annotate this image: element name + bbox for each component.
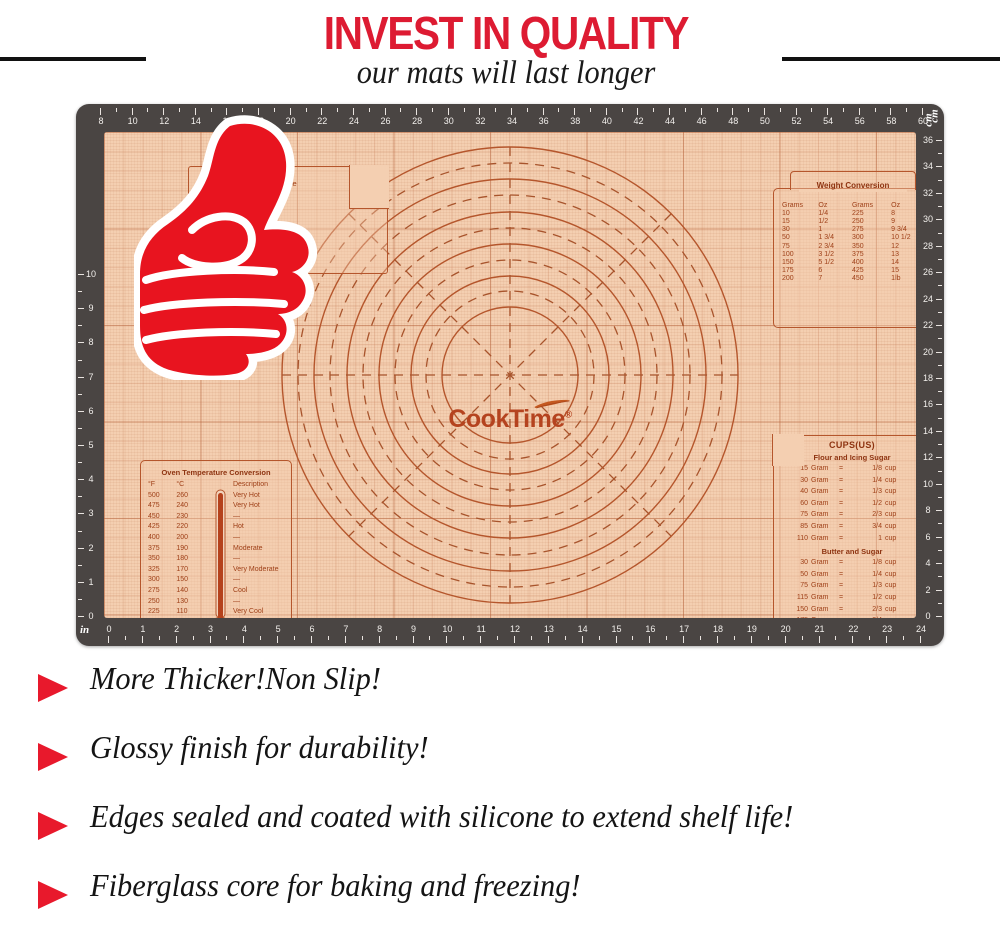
ruler-tick-label: 7	[84, 372, 98, 382]
ruler-tick-label: 48	[727, 116, 739, 126]
list-item: 40Gram=1/3cup	[774, 486, 916, 498]
list-item: Edges sealed and coated with silicone to…	[0, 798, 1000, 867]
ruler-tick	[78, 479, 84, 480]
ruler-tick	[938, 233, 942, 234]
oven-desc-value: Very Moderate	[233, 565, 284, 576]
ruler-tick	[548, 636, 549, 643]
ruler-tick	[78, 360, 82, 361]
weight-cell: 8	[891, 209, 916, 217]
weight-cell: 275	[852, 226, 891, 234]
ruler-tick	[936, 246, 942, 247]
ruler-tick	[78, 582, 84, 583]
list-item: 150Gram=2/3cup	[774, 604, 916, 616]
ruler-tick	[936, 378, 942, 379]
weight-cell: 300	[852, 234, 891, 242]
cups-cell: Gram	[808, 569, 834, 581]
ruler-tick	[802, 636, 803, 640]
ruler-tick-label: 6	[84, 406, 98, 416]
ruler-tick-label: 2	[921, 585, 935, 595]
ruler-tick-label: 7	[339, 624, 353, 634]
ruler-tick	[514, 636, 515, 643]
weight-cell: 14	[891, 258, 916, 266]
ruler-tick	[852, 636, 853, 643]
oven-header-desc: Description	[233, 480, 284, 491]
ruler-tick	[938, 180, 942, 181]
oven-f-value: 400	[148, 533, 176, 544]
feature-bullets: More Thicker!Non Slip! Glossy finish for…	[0, 660, 1000, 936]
ruler-tick	[226, 636, 227, 640]
ruler-tick	[78, 308, 84, 309]
ruler-tick-label: 24	[348, 116, 360, 126]
oven-f-value: 250	[148, 597, 176, 608]
ruler-tick	[748, 108, 749, 112]
ruler-tick-label: 34	[921, 161, 935, 171]
cups-cell: Gram	[808, 498, 834, 510]
oven-desc-value: —	[233, 533, 284, 544]
cups-cell: =	[834, 509, 848, 521]
ruler-tick	[527, 108, 528, 112]
ruler-tick	[936, 352, 942, 353]
ruler-tick	[463, 636, 464, 640]
ruler-tick-label: 12	[921, 452, 935, 462]
ruler-tick	[734, 636, 735, 640]
wheat-icon	[532, 398, 572, 410]
ruler-tick-label: 30	[921, 214, 935, 224]
ruler-right-cm: 363432302826242220181614121086420cm	[916, 104, 944, 646]
cups-cell: =	[834, 557, 848, 569]
oven-c-value: 170	[176, 565, 204, 576]
ruler-tick-label: 4	[237, 624, 251, 634]
ruler-tick	[606, 108, 607, 115]
ruler-tick	[78, 462, 82, 463]
oven-c-value: 230	[176, 512, 204, 523]
table-row: 151/22509	[782, 217, 916, 225]
arrow-right-icon	[38, 674, 68, 702]
bullet-label-3: Edges sealed and coated with silicone to…	[90, 798, 793, 835]
ruler-tick-label: 16	[921, 399, 935, 409]
ruler-tick-label: 15	[610, 624, 624, 634]
ruler-tick	[432, 108, 433, 112]
ruler-tick	[531, 636, 532, 640]
ruler-tick-label: 2	[84, 543, 98, 553]
weight-cell: 1/2	[818, 217, 852, 225]
oven-fahrenheit-column: °F500475450425400375350325300275250225	[148, 480, 176, 618]
cups-cell: Gram	[808, 533, 834, 545]
th-oz-1: Oz	[818, 201, 852, 209]
cups-cell: cup	[882, 557, 904, 569]
oven-f-value: 350	[148, 554, 176, 565]
oven-c-value: 220	[176, 522, 204, 533]
table-row: 175642515	[782, 267, 916, 275]
cups-cell: cup	[882, 486, 904, 498]
list-item: 85Gram=3/4cup	[774, 521, 916, 533]
cups-cell: 85	[788, 521, 808, 533]
weight-cell: 12	[891, 242, 916, 250]
weight-cell: 375	[852, 250, 891, 258]
ruler-tick-label: 21	[813, 624, 827, 634]
oven-c-value: 190	[176, 544, 204, 555]
ruler-tick	[78, 411, 84, 412]
ruler-tick-label: 3	[204, 624, 218, 634]
ruler-tick	[582, 636, 583, 643]
ruler-tick	[936, 193, 942, 194]
ruler-tick	[683, 636, 684, 643]
ruler-tick	[311, 636, 312, 643]
ruler-tick	[260, 636, 261, 640]
arrow-right-icon	[38, 743, 68, 771]
weight-cell: 1	[818, 226, 852, 234]
cups-cell: =	[834, 463, 848, 475]
ruler-tick	[159, 636, 160, 640]
ruler-tick	[125, 636, 126, 640]
ruler-tick	[400, 108, 401, 112]
ruler-tick	[938, 576, 942, 577]
th-oz-2: Oz	[891, 201, 916, 209]
ruler-tick	[936, 457, 942, 458]
cups-cell: cup	[882, 463, 904, 475]
ruler-tick	[590, 108, 591, 112]
ruler-tick	[780, 108, 781, 112]
ruler-tick	[717, 108, 718, 112]
ruler-tick-label: 0	[921, 611, 935, 621]
ruler-unit-cm: cm	[923, 113, 935, 126]
ruler-tick-label: 6	[305, 624, 319, 634]
ruler-tick-label: 12	[508, 624, 522, 634]
ruler-tick	[938, 603, 942, 604]
oven-c-value: 130	[176, 597, 204, 608]
table-row: 752 3/435012	[782, 242, 916, 250]
cups-cell: 3/4	[848, 521, 882, 533]
ruler-tick-label: 4	[84, 474, 98, 484]
ruler-tick	[811, 108, 812, 112]
weight-cell: 1 3/4	[818, 234, 852, 242]
ruler-tick	[938, 497, 942, 498]
ruler-tick-label: 42	[632, 116, 644, 126]
ruler-tick-label: 10	[921, 479, 935, 489]
ruler-tick-label: 36	[538, 116, 550, 126]
cups-cell: 1/3	[848, 486, 882, 498]
ruler-tick	[764, 108, 765, 115]
ruler-tick	[78, 274, 84, 275]
ruler-tick	[294, 636, 295, 640]
ruler-tick-label: 10	[84, 269, 98, 279]
ruler-tick-label: 28	[411, 116, 423, 126]
cups-cell: cup	[882, 509, 904, 521]
oven-c-value: 240	[176, 501, 204, 512]
ruler-tick	[685, 108, 686, 112]
weight-conversion-table: Grams Oz Grams Oz 101/42258151/225093012…	[782, 201, 916, 283]
cups-cell: 60	[788, 498, 808, 510]
list-item: Fiberglass core for baking and freezing!	[0, 867, 1000, 936]
weight-cell: 7	[818, 275, 852, 283]
oven-f-value: 500	[148, 491, 176, 502]
ruler-tick	[938, 471, 942, 472]
header-rule-left	[0, 57, 146, 61]
oven-f-value: 450	[148, 512, 176, 523]
ruler-tick	[936, 563, 942, 564]
oven-desc-value: Very Cool	[233, 607, 284, 618]
ruler-tick-label: 0	[102, 624, 116, 634]
cups-cell: 1/8	[848, 463, 882, 475]
ruler-tick	[353, 108, 354, 115]
ruler-tick	[768, 636, 769, 640]
weight-cell: 425	[852, 267, 891, 275]
brand-logo: CookTime®	[448, 405, 571, 434]
cups-cell: 1/3	[848, 580, 882, 592]
cups-cell: 75	[788, 509, 808, 521]
ruler-tick	[416, 108, 417, 115]
ruler-tick-label: 34	[506, 116, 518, 126]
cups-cell: 30	[788, 475, 808, 487]
ruler-tick	[938, 338, 942, 339]
th-grams-2: Grams	[852, 201, 891, 209]
weight-conversion-title: Weight Conversion	[790, 181, 916, 190]
cups-cell: 1/4	[848, 569, 882, 581]
pastry-mat-product-image: CookTime® e before use bject on the mat …	[76, 104, 944, 646]
ruler-tick	[210, 636, 211, 643]
ruler-tick	[379, 636, 380, 643]
ruler-tick	[132, 108, 133, 115]
ruler-tick-label: 28	[921, 241, 935, 251]
cups-cell: Gram	[808, 521, 834, 533]
ruler-tick-label: 8	[921, 505, 935, 515]
oven-desc-value: Very Hot	[233, 501, 284, 512]
ruler-tick	[599, 636, 600, 640]
weight-cell: 150	[782, 258, 818, 266]
oven-c-value: 180	[176, 554, 204, 565]
ruler-tick-label: 56	[854, 116, 866, 126]
list-item: 30Gram=1/4cup	[774, 475, 916, 487]
oven-desc-value: Very Hot	[233, 491, 284, 502]
ruler-tick	[337, 108, 338, 112]
oven-c-value: 150	[176, 575, 204, 586]
cups-cell: =	[834, 569, 848, 581]
weight-cell: 13	[891, 250, 916, 258]
cups-cell: cup	[882, 498, 904, 510]
weight-cell: 3 1/2	[818, 250, 852, 258]
weight-cell: 6	[818, 267, 852, 275]
ruler-tick-label: 5	[271, 624, 285, 634]
ruler-tick-label: 13	[542, 624, 556, 634]
list-item: Glossy finish for durability!	[0, 729, 1000, 798]
ruler-tick	[859, 108, 860, 115]
ruler-tick	[78, 325, 82, 326]
ruler-tick	[936, 325, 942, 326]
ruler-tick	[886, 636, 887, 643]
ruler-tick	[78, 565, 82, 566]
weight-cell: 225	[852, 209, 891, 217]
ruler-tick-label: 0	[84, 611, 98, 621]
oven-c-value: 200	[176, 533, 204, 544]
thumbs-up-icon	[134, 112, 320, 380]
ruler-tick-label: 8	[373, 624, 387, 634]
cups-cell: =	[834, 521, 848, 533]
oven-desc-value: Hot	[233, 522, 284, 533]
weight-cell: 9 3/4	[891, 226, 916, 234]
oven-desc-value: —	[233, 512, 284, 523]
ruler-tick	[574, 108, 575, 115]
ruler-tick	[938, 418, 942, 419]
oven-desc-value: —	[233, 554, 284, 565]
ruler-tick-label: 22	[921, 320, 935, 330]
oven-temperature-panel: Oven Temperature Conversion °F5004754504…	[140, 460, 292, 618]
ruler-tick	[464, 108, 465, 112]
ruler-tick	[936, 537, 942, 538]
ruler-tick	[936, 590, 942, 591]
cups-cell: cup	[882, 580, 904, 592]
weight-cell: 50	[782, 234, 818, 242]
ruler-tick-label: 11	[474, 624, 488, 634]
list-item: More Thicker!Non Slip!	[0, 660, 1000, 729]
ruler-tick	[632, 636, 633, 640]
list-item: 50Gram=1/4cup	[774, 569, 916, 581]
ruler-tick-label: 20	[921, 347, 935, 357]
ruler-tick-label: 8	[84, 337, 98, 347]
oven-desc-value: —	[233, 597, 284, 608]
cups-cell: 30	[788, 557, 808, 569]
ruler-tick-label: 20	[779, 624, 793, 634]
cups-cell: cup	[882, 475, 904, 487]
list-item: 75Gram=1/3cup	[774, 580, 916, 592]
ruler-tick	[413, 636, 414, 643]
ruler-tick	[78, 291, 82, 292]
oven-celsius-column: °C260240230220200190180170150140130110	[176, 480, 204, 618]
ruler-tick	[78, 445, 84, 446]
ruler-tick	[480, 636, 481, 643]
ruler-tick	[78, 496, 82, 497]
ruler-tick	[938, 206, 942, 207]
oven-header-f: °F	[148, 480, 176, 491]
ruler-tick-label: 5	[84, 440, 98, 450]
oven-f-value: 475	[148, 501, 176, 512]
ruler-tick	[193, 636, 194, 640]
table-row: 1505 1/240014	[782, 258, 916, 266]
ruler-tick	[78, 394, 82, 395]
ruler-tick	[701, 108, 702, 115]
table-row: 3012759 3/4	[782, 226, 916, 234]
ruler-tick	[936, 299, 942, 300]
oven-desc-value: Cool	[233, 586, 284, 597]
oven-header-c: °C	[176, 480, 204, 491]
ruler-tick	[362, 636, 363, 640]
ruler-tick	[936, 166, 942, 167]
ruler-tick	[796, 108, 797, 115]
cups-cell: 1	[848, 533, 882, 545]
ruler-tick-label: 10	[440, 624, 454, 634]
cups-cell: Gram	[808, 580, 834, 592]
cups-cell: Gram	[808, 475, 834, 487]
weight-cell: 9	[891, 217, 916, 225]
ruler-tick-label: 4	[921, 558, 935, 568]
ruler-tick	[78, 342, 84, 343]
weight-cell: 400	[852, 258, 891, 266]
ruler-tick	[116, 108, 117, 112]
cups-cell: 110	[788, 533, 808, 545]
ruler-tick	[78, 428, 82, 429]
cups-notch	[772, 434, 804, 466]
ruler-tick-label: 19	[745, 624, 759, 634]
ruler-tick	[827, 108, 828, 115]
ruler-tick	[429, 636, 430, 640]
oven-f-value: 375	[148, 544, 176, 555]
weight-cell: 5 1/2	[818, 258, 852, 266]
ruler-tick	[446, 636, 447, 643]
ruler-tick	[936, 510, 942, 511]
cups-cell: cup	[882, 533, 904, 545]
ruler-tick	[649, 636, 650, 643]
ruler-bottom-in: 0123456789101112131415161718192021222324…	[76, 618, 944, 646]
cups-cell: Gram	[808, 604, 834, 616]
list-item: 75Gram=2/3cup	[774, 509, 916, 521]
cups-section-title: Butter and Sugar	[774, 544, 916, 557]
ruler-tick	[448, 108, 449, 115]
table-row: 101/42258	[782, 209, 916, 217]
ruler-tick	[938, 312, 942, 313]
cups-cell: 1/2	[848, 592, 882, 604]
weight-cell: 2 3/4	[818, 242, 852, 250]
table-header-row: Grams Oz Grams Oz	[782, 201, 916, 209]
instructions-notch	[349, 165, 389, 209]
ruler-tick	[78, 531, 82, 532]
ruler-tick-label: 26	[921, 267, 935, 277]
ruler-tick-label: 44	[664, 116, 676, 126]
cups-cell: Gram	[808, 557, 834, 569]
ruler-tick	[497, 636, 498, 640]
cups-cell: =	[834, 498, 848, 510]
ruler-tick	[906, 108, 907, 112]
ruler-tick	[369, 108, 370, 112]
ruler-tick	[785, 636, 786, 643]
ruler-tick-label: 16	[643, 624, 657, 634]
cups-cell: 50	[788, 569, 808, 581]
oven-c-value: 140	[176, 586, 204, 597]
cups-cell: 75	[788, 580, 808, 592]
ruler-tick	[511, 108, 512, 115]
ruler-tick	[622, 108, 623, 112]
weight-cell: 350	[852, 242, 891, 250]
oven-f-value: 275	[148, 586, 176, 597]
ruler-tick	[479, 108, 480, 115]
cups-cell: cup	[882, 569, 904, 581]
cups-cell: cup	[882, 521, 904, 533]
ruler-tick-label: 36	[921, 135, 935, 145]
page-title: INVEST IN QUALITY	[265, 6, 747, 60]
cups-cell: 115	[788, 592, 808, 604]
weight-cell: 250	[852, 217, 891, 225]
ruler-tick	[903, 636, 904, 640]
ruler-tick	[835, 636, 836, 640]
weight-cell: 75	[782, 242, 818, 250]
ruler-tick	[843, 108, 844, 112]
cups-cell: Gram	[808, 509, 834, 521]
cups-cell: 1/2	[848, 498, 882, 510]
cups-cell: =	[834, 592, 848, 604]
ruler-tick	[277, 636, 278, 643]
ruler-tick	[78, 513, 84, 514]
trademark-mark: ®	[565, 410, 572, 421]
ruler-tick	[936, 616, 942, 617]
weight-cell: 1lb	[891, 275, 916, 283]
ruler-tick	[936, 219, 942, 220]
ruler-tick-label: 54	[822, 116, 834, 126]
ruler-tick	[396, 636, 397, 640]
ruler-tick	[669, 108, 670, 115]
ruler-tick	[328, 636, 329, 640]
ruler-tick	[732, 108, 733, 115]
list-item: 115Gram=1/2cup	[774, 592, 916, 604]
ruler-tick	[345, 636, 346, 643]
cups-cell: 2/3	[848, 604, 882, 616]
